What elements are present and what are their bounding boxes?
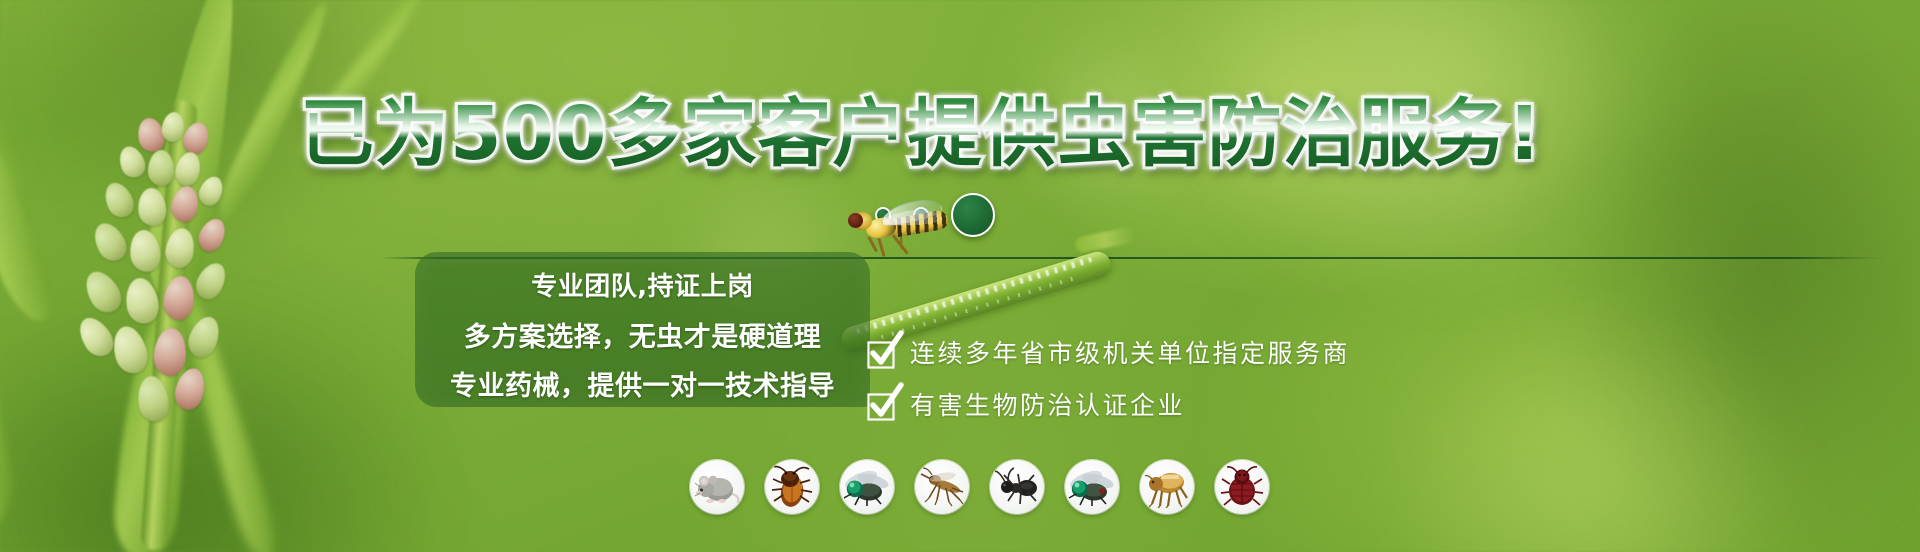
fly-eye — [848, 213, 863, 228]
dot-large — [951, 193, 995, 237]
credential-label: 有害生物防治认证企业 — [910, 386, 1185, 422]
list-item: 有害生物防治认证企业 — [868, 378, 1350, 430]
mosquito-icon[interactable]: 蚊 — [915, 460, 969, 514]
bedbug-icon[interactable]: 臭虫 — [1215, 460, 1269, 514]
fly-icon[interactable]: 苍蝇 — [840, 460, 894, 514]
credential-label: 连续多年省市级机关单位指定服务商 — [910, 334, 1350, 370]
pest-icon-row: 鼠 蟑螂 — [690, 460, 1269, 514]
ant-icon[interactable]: 蚂蚁 — [990, 460, 1044, 514]
pest-control-banner: 已为500多家客户提供虫害防治服务! 已为500多家客户提供虫害防治服务! 专业… — [0, 0, 1920, 552]
credentials-checklist: 连续多年省市级机关单位指定服务商 有害生物防治认证企业 — [868, 326, 1350, 430]
flea-icon[interactable]: 跳蚤 — [1140, 460, 1194, 514]
checkbox-checked-icon — [868, 391, 894, 417]
hoverfly-image — [846, 196, 956, 258]
selling-point-line-1: 专业团队,持证上岗 — [415, 266, 870, 303]
selling-point-line-2: 多方案选择，无虫才是硬道理 — [415, 315, 870, 354]
flower-spike — [80, 110, 320, 450]
blowfly-icon[interactable]: 绿头蝇 — [1065, 460, 1119, 514]
leaf-blade — [0, 33, 64, 328]
list-item: 连续多年省市级机关单位指定服务商 — [868, 326, 1350, 378]
page-title: 已为500多家客户提供虫害防治服务! — [300, 74, 1542, 181]
cockroach-icon[interactable]: 蟑螂 — [765, 460, 819, 514]
mouse-icon[interactable]: 鼠 — [690, 460, 744, 514]
selling-point-line-3: 专业药械，提供一对一技术指导 — [415, 364, 870, 403]
checkbox-checked-icon — [868, 339, 894, 365]
selling-points-panel: 专业团队,持证上岗 多方案选择，无虫才是硬道理 专业药械，提供一对一技术指导 — [415, 252, 870, 407]
